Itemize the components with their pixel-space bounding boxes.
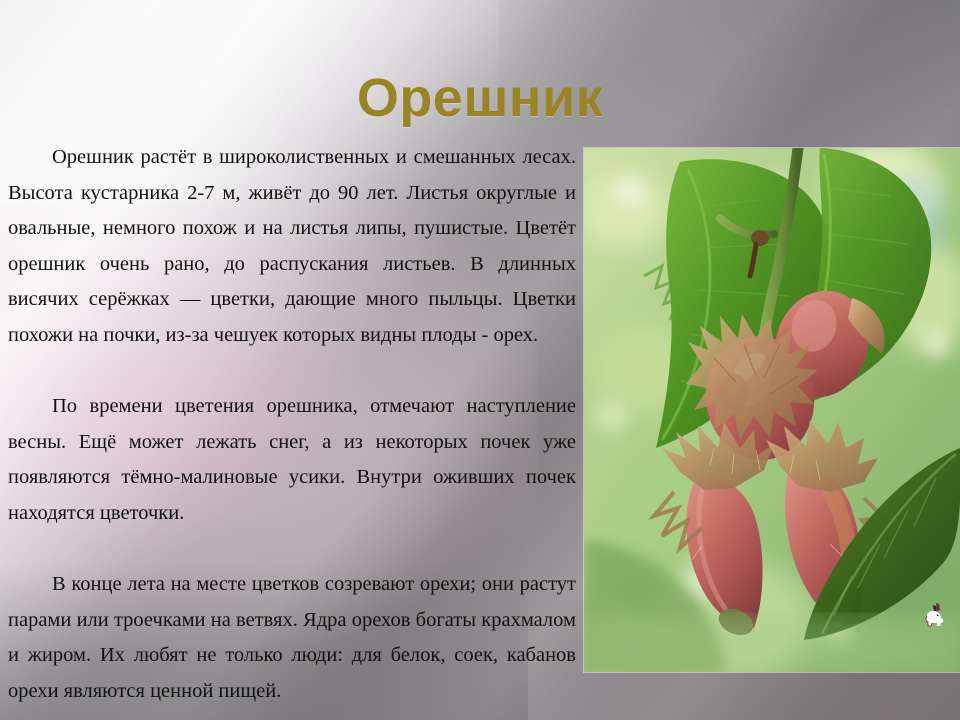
- rabbit-icon: [924, 602, 946, 630]
- hazelnut-photo: [584, 148, 960, 672]
- hazelnut-photo-image: [584, 148, 960, 672]
- slide-body-text: Орешник растёт в широколиственных и смеш…: [8, 140, 576, 710]
- presentation-slide: Орешник Орешник растёт в широколиственны…: [0, 0, 960, 720]
- paragraph-1: Орешник растёт в широколиственных и смеш…: [8, 140, 576, 354]
- slide-title: Орешник: [0, 70, 960, 127]
- paragraph-2: По времени цветения орешника, отмечают н…: [8, 389, 576, 531]
- paragraph-3: В конце лета на месте цветков созревают …: [8, 567, 576, 709]
